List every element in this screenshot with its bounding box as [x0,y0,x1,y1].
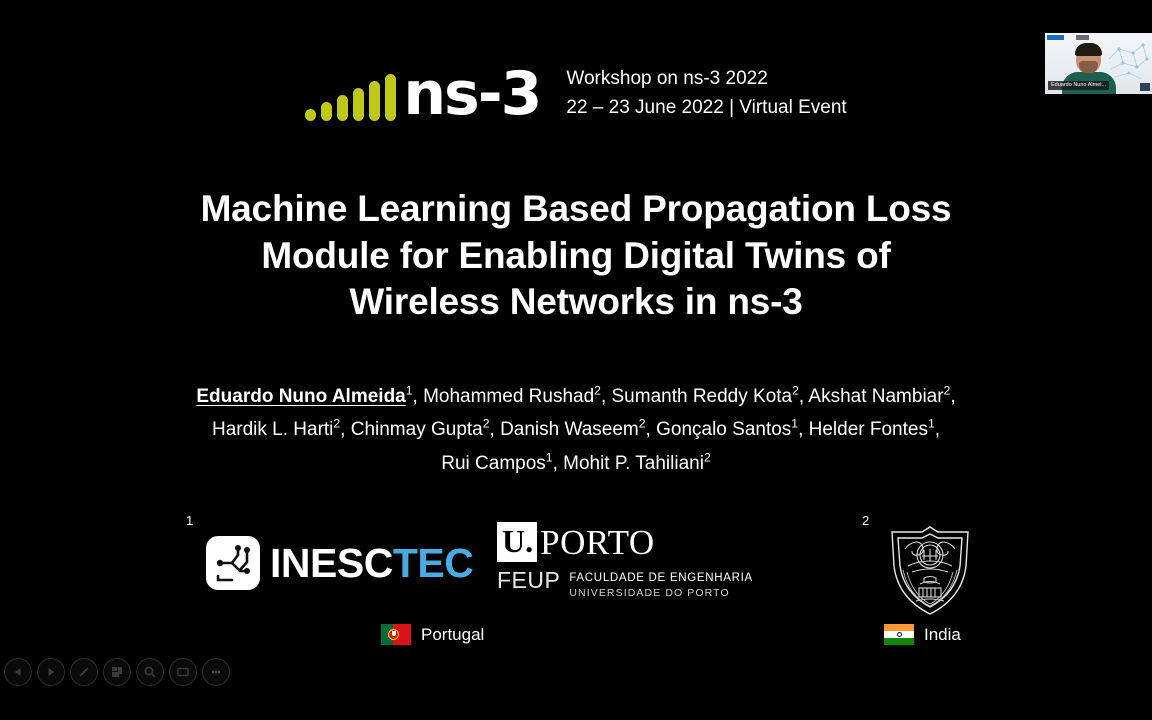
uporto-porto-text: PORTO [540,525,655,560]
webcam-logo-secondary-icon [1076,35,1089,40]
feup-acronym: FEUP [497,569,560,592]
author-name: Rui Campos [441,453,546,474]
author-separator: , [601,386,612,407]
flag-chakra [897,632,902,637]
author-name: Akshat Nambiar [808,386,943,407]
webcam-participant-name: Eduardo Nuno Almei... [1048,81,1109,90]
author-name: Mohit P. Tahiliani [563,453,704,474]
webcam-slide-logos [1047,35,1089,40]
title-line-2: Module for Enabling Digital Twins of [76,233,1076,280]
country-india: India [884,624,961,645]
author-separator: , [553,453,564,474]
affiliation-marker-2: 2 [862,513,869,528]
india-flag-icon [884,624,914,645]
feup-block: FEUP FACULDADE DE ENGENHARIA UNIVERSIDAD… [497,569,753,599]
author-affiliation-marker: 2 [483,417,490,431]
webcam-corner-badge [1140,83,1150,91]
portugal-flag-icon [381,624,411,645]
event-title: Workshop on ns-3 2022 [566,66,846,92]
webcam-logo-primary-icon [1047,35,1064,40]
signal-bar-1 [305,109,316,121]
title-line-3: Wireless Networks in ns-3 [76,279,1076,326]
author-affiliation-marker: 1 [546,450,553,464]
inesc-text: INESC [270,540,393,586]
country-label-portugal: Portugal [421,626,484,643]
lead-author-affiliation-marker: 1 [406,384,413,398]
author-affiliation-marker: 2 [639,417,646,431]
signal-bar-5 [369,81,380,121]
affiliation-marker-1: 1 [186,513,193,528]
uporto-u-box: U. [497,522,537,562]
blank-screen-button[interactable] [169,658,197,686]
affiliation-logos: 1 [0,508,1152,618]
author-line-2: Hardik L. Harti2, Chinmay Gupta2, Danish… [76,413,1076,446]
author-name: Mohammed Rushad [423,386,594,407]
country-row: Portugal India [0,624,1152,654]
author-name: Danish Waseem [500,419,639,440]
country-label-india: India [924,626,961,643]
affiliation-u-porto: U. PORTO FEUP FACULDADE DE ENGENHARIA UN… [497,522,753,599]
ns3-logo: ns-3 [305,66,540,123]
author-name: Hardik L. Harti [212,419,333,440]
webcam-person-hair [1075,43,1102,56]
feup-fullname: FACULDADE DE ENGENHARIA UNIVERSIDADE DO … [569,569,753,599]
ns3-signal-bars-icon [305,75,396,123]
author-name: Helder Fontes [809,419,928,440]
nitk-crest-logo [886,522,974,623]
author-separator: , [340,419,351,440]
webcam-overlay[interactable]: Eduardo Nuno Almei... [1045,33,1152,94]
author-separator: , [646,419,657,440]
author-separator: , [490,419,501,440]
author-name: Sumanth Reddy Kota [612,386,793,407]
slide-title: Machine Learning Based Propagation Loss … [76,186,1076,326]
lead-author-name: Eduardo Nuno Almeida [196,386,405,407]
author-separator: , [798,419,809,440]
author-separator: , [413,386,424,407]
signal-bar-2 [321,102,332,121]
flag-band-saffron [884,624,914,631]
author-name: Chinmay Gupta [351,419,483,440]
previous-slide-button[interactable] [4,658,32,686]
author-affiliation-marker: 2 [792,384,799,398]
next-slide-button[interactable] [37,658,65,686]
event-dates: 22 – 23 June 2022 | Virtual Event [566,95,846,121]
signal-bar-6 [385,74,396,121]
feup-faculty-line: FACULDADE DE ENGENHARIA [569,572,753,585]
feup-university-line: UNIVERSIDADE DO PORTO [569,587,753,599]
author-name: Gonçalo Santos [656,419,791,440]
more-options-button[interactable] [202,658,230,686]
ns3-wordmark: ns-3 [403,66,540,123]
tec-text: TEC [393,540,474,586]
event-info: Workshop on ns-3 2022 22 – 23 June 2022 … [566,66,846,122]
inesc-circuit-icon [206,536,260,590]
author-affiliation-marker: 2 [594,384,601,398]
author-separator: , [799,386,809,407]
flag-shield [392,631,396,636]
author-affiliation-marker: 2 [704,450,711,464]
pen-tool-button[interactable] [70,658,98,686]
slide-overview-button[interactable] [103,658,131,686]
presentation-slide: ns-3 Workshop on ns-3 2022 22 – 23 June … [0,0,1152,720]
author-line-3: Rui Campos1, Mohit P. Tahiliani2 [76,447,1076,480]
presenter-toolbar [0,656,264,688]
author-separator: , [950,386,955,407]
author-separator: , [935,419,940,440]
signal-bar-3 [337,95,348,121]
uporto-wordmark: U. PORTO [497,522,753,562]
title-line-1: Machine Learning Based Propagation Loss [76,186,1076,233]
slide-header: ns-3 Workshop on ns-3 2022 22 – 23 June … [0,66,1152,123]
author-list: Eduardo Nuno Almeida1, Mohammed Rushad2,… [76,380,1076,480]
author-affiliation-marker: 1 [928,417,935,431]
country-portugal: Portugal [381,624,484,645]
author-line-1: Eduardo Nuno Almeida1, Mohammed Rushad2,… [76,380,1076,413]
zoom-button[interactable] [136,658,164,686]
inesc-tec-logo: INESCTEC [206,536,473,590]
inesc-tec-wordmark: INESCTEC [270,543,473,584]
signal-bar-4 [353,88,364,121]
flag-band-green [884,638,914,645]
